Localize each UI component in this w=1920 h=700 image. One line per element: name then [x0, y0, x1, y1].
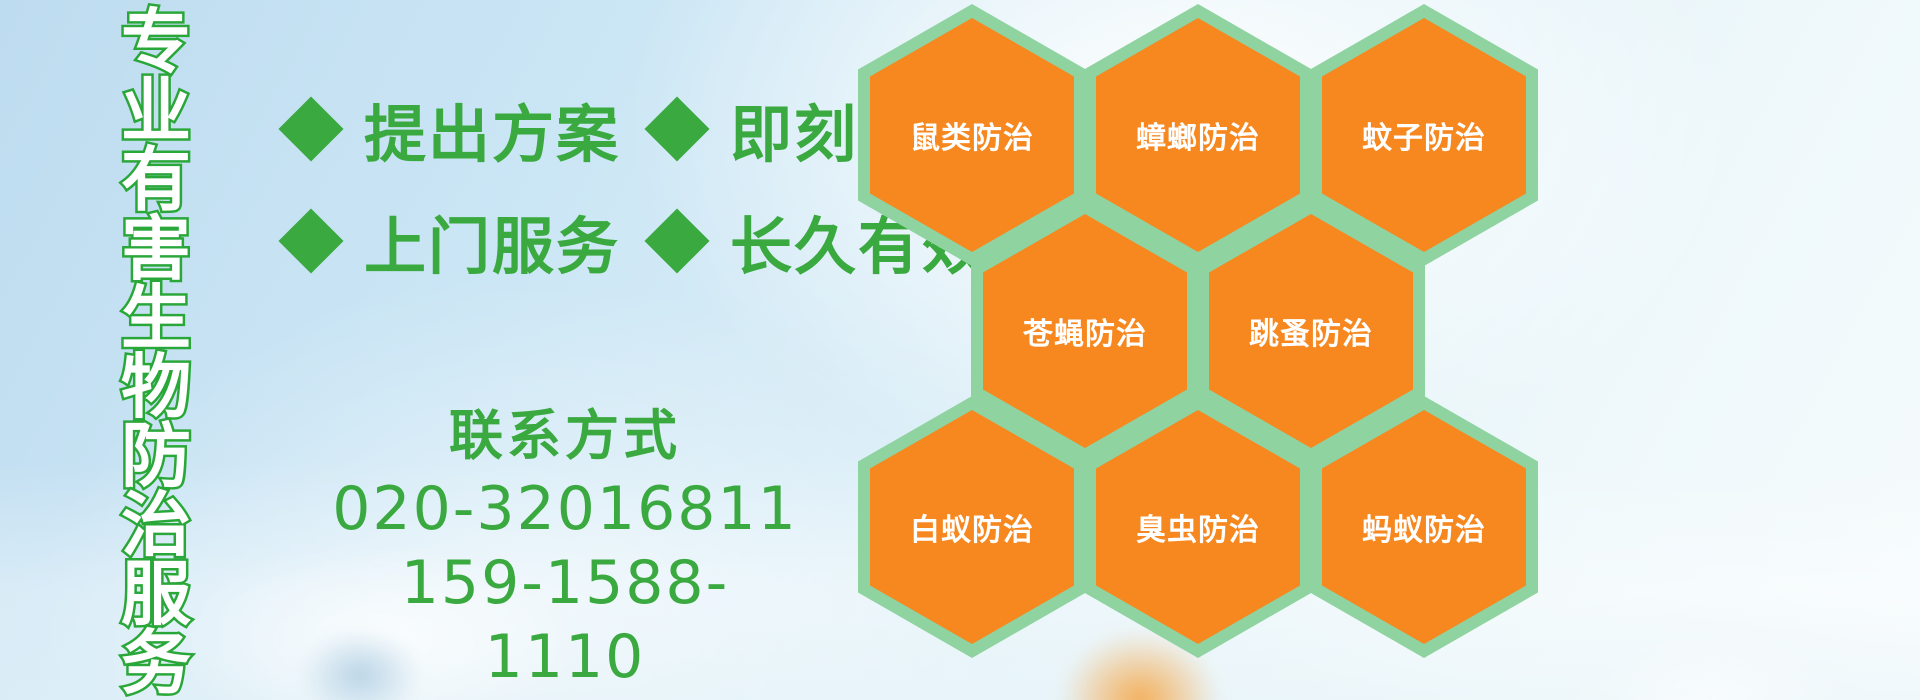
contact-block: 联系方式 020-32016811 159-1588-1110	[330, 400, 800, 694]
diamond-bullet-icon	[278, 208, 343, 273]
vertical-headline-char-6: 防	[121, 422, 191, 491]
vertical-headline-char-8: 服	[121, 560, 191, 629]
contact-phone-mobile[interactable]: 159-1588-1110	[330, 546, 800, 694]
diamond-bullet-icon	[644, 96, 709, 161]
diamond-bullet-icon	[278, 96, 343, 161]
vertical-headline-char-0: 专	[121, 8, 191, 77]
hex-label-flea-control: 跳蚤防治	[1249, 309, 1373, 353]
hex-label-cockroach-control: 蟑螂防治	[1136, 113, 1260, 157]
hex-inner: 蟑螂防治	[1096, 18, 1300, 252]
hex-inner: 臭虫防治	[1096, 410, 1300, 644]
feature-label-propose-plan: 提出方案	[364, 84, 620, 174]
contact-phone-landline[interactable]: 020-32016811	[330, 472, 800, 546]
diamond-bullet-icon	[644, 208, 709, 273]
vertical-headline-char-7: 治	[121, 491, 191, 560]
vertical-headline-char-3: 害	[121, 215, 191, 284]
vertical-headline-char-9: 务	[121, 629, 191, 698]
background-blur-highlight-right	[1560, 630, 1860, 700]
service-honeycomb: 鼠类防治 蟑螂防治 蚊子防治 苍蝇防治 跳蚤防治 白蚁防治	[846, 0, 1566, 686]
vertical-headline-char-1: 业	[121, 77, 191, 146]
hex-inner: 苍蝇防治	[983, 214, 1187, 448]
hex-label-rodent-control: 鼠类防治	[910, 113, 1034, 157]
hex-label-termite-control: 白蚁防治	[910, 505, 1034, 549]
hex-label-bedbug-control: 臭虫防治	[1136, 505, 1260, 549]
feature-label-onsite-service: 上门服务	[364, 196, 620, 286]
vertical-headline-char-4: 生	[121, 284, 191, 353]
promotional-banner: 专 业 有 害 生 物 防 治 服 务 提出方案 即刻处理 上门服务 长久有效 …	[0, 0, 1920, 700]
vertical-headline-char-5: 物	[121, 353, 191, 422]
hex-inner: 鼠类防治	[870, 18, 1074, 252]
hex-inner: 白蚁防治	[870, 410, 1074, 644]
vertical-headline-char-2: 有	[121, 146, 191, 215]
vertical-headline: 专 业 有 害 生 物 防 治 服 务	[110, 8, 202, 698]
hex-inner: 跳蚤防治	[1209, 214, 1413, 448]
hex-inner: 蚂蚁防治	[1322, 410, 1526, 644]
hex-label-fly-control: 苍蝇防治	[1023, 309, 1147, 353]
hex-label-ant-control: 蚂蚁防治	[1362, 505, 1486, 549]
hex-inner: 蚊子防治	[1322, 18, 1526, 252]
hex-label-mosquito-control: 蚊子防治	[1362, 113, 1486, 157]
contact-heading: 联系方式	[330, 400, 800, 472]
